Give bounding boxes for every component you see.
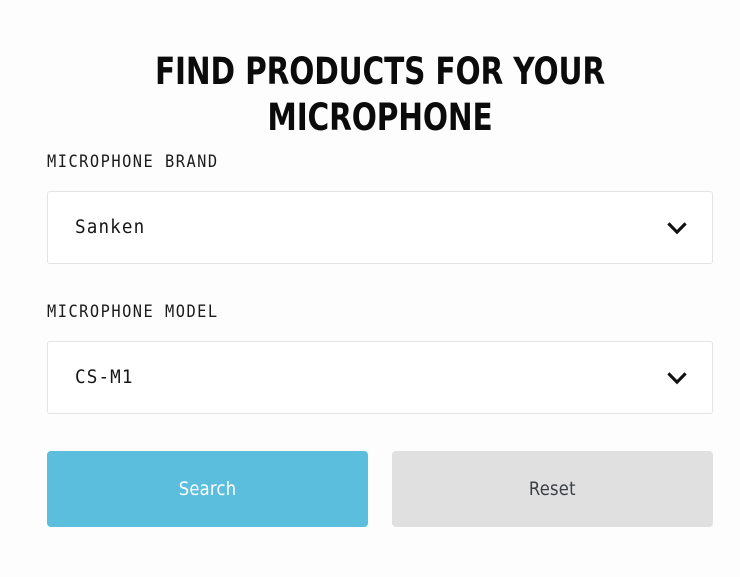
product-finder-form: FIND PRODUCTS FOR YOUR MICROPHONE MICROP… xyxy=(0,0,740,577)
field-group-microphone-model: MICROPHONE MODEL CS-M1 xyxy=(47,302,713,414)
select-microphone-brand-value: Sanken xyxy=(75,192,145,263)
field-group-microphone-brand: MICROPHONE BRAND Sanken xyxy=(47,152,713,264)
chevron-down-icon xyxy=(664,215,690,241)
label-microphone-model: MICROPHONE MODEL xyxy=(47,302,666,322)
reset-button-label: Reset xyxy=(529,478,576,500)
select-microphone-model[interactable]: CS-M1 xyxy=(47,341,713,414)
reset-button[interactable]: Reset xyxy=(392,451,713,527)
page-title: FIND PRODUCTS FOR YOUR MICROPHONE xyxy=(114,49,647,141)
select-microphone-brand[interactable]: Sanken xyxy=(47,191,713,264)
search-button-label: Search xyxy=(179,478,237,500)
select-microphone-model-value: CS-M1 xyxy=(75,342,134,413)
search-button[interactable]: Search xyxy=(47,451,368,527)
label-microphone-brand: MICROPHONE BRAND xyxy=(47,152,666,172)
form-actions: Search Reset xyxy=(47,451,713,527)
chevron-down-icon xyxy=(664,365,690,391)
